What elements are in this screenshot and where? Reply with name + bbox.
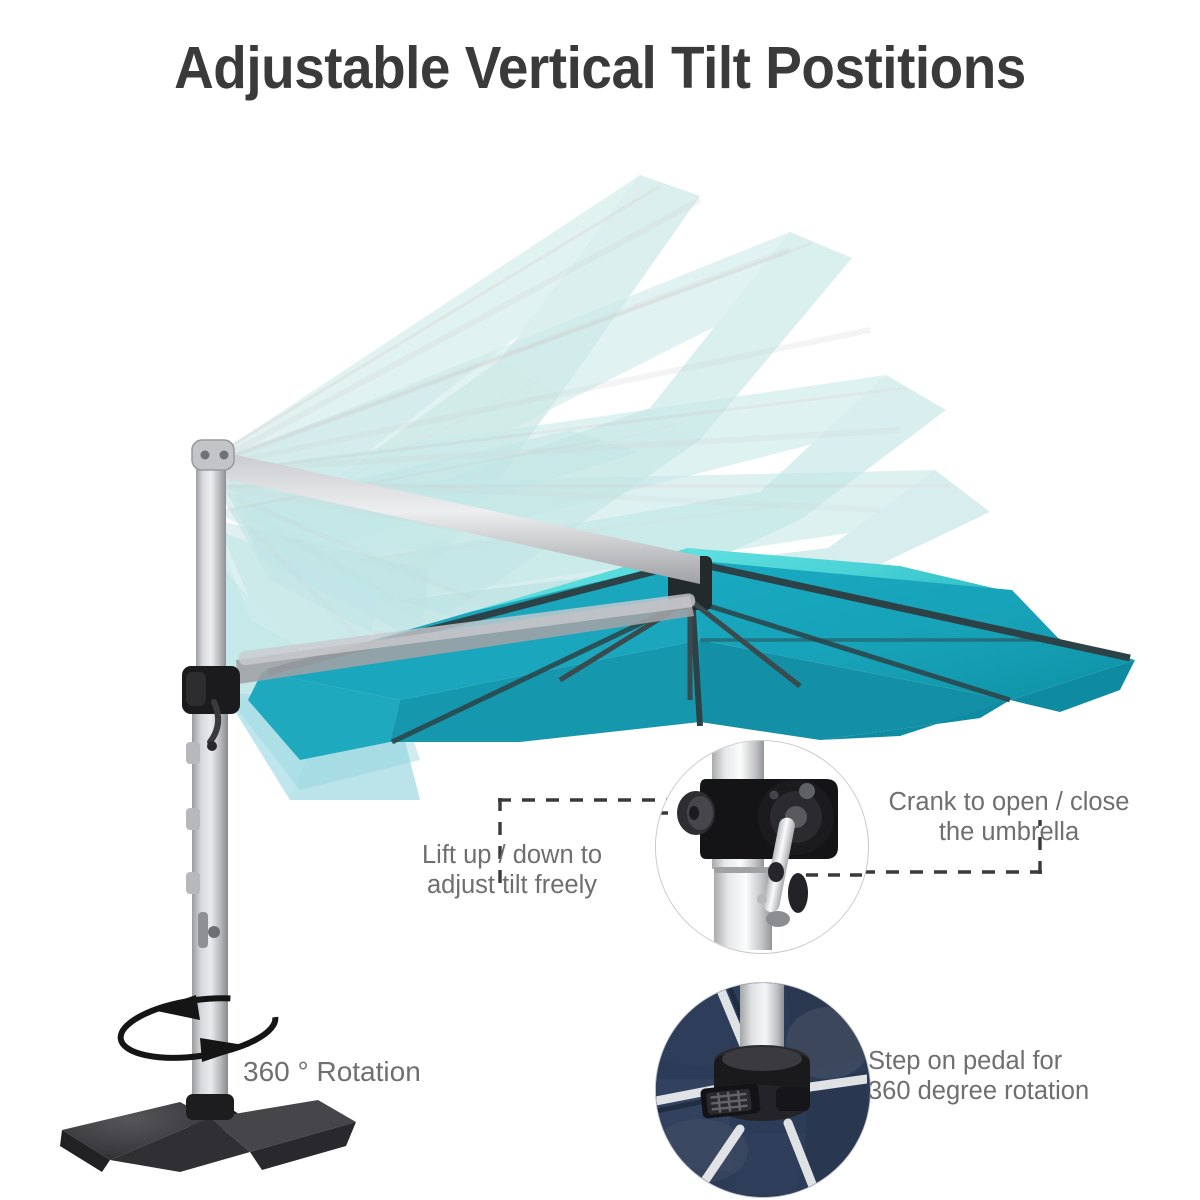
tilt-joint	[182, 666, 240, 751]
inset-crank-detail	[655, 740, 869, 954]
umbrella-base	[60, 1094, 356, 1172]
mast-top-pivot	[192, 440, 234, 470]
label-360-rotation: 360 ° Rotation	[243, 1055, 543, 1088]
inset-pedal-detail	[655, 982, 871, 1198]
umbrella-illustration	[0, 0, 1200, 1200]
label-crank-open-close: Crank to open / close the umbrella	[864, 787, 1154, 847]
label-step-on-pedal: Step on pedal for 360 degree rotation	[868, 1046, 1168, 1106]
foot-pedal-icon	[700, 1083, 761, 1119]
label-lift-adjust-tilt: Lift up / down to adjust tilt freely	[392, 840, 632, 900]
infographic-page: Adjustable Vertical Tilt Postitions	[0, 0, 1200, 1200]
